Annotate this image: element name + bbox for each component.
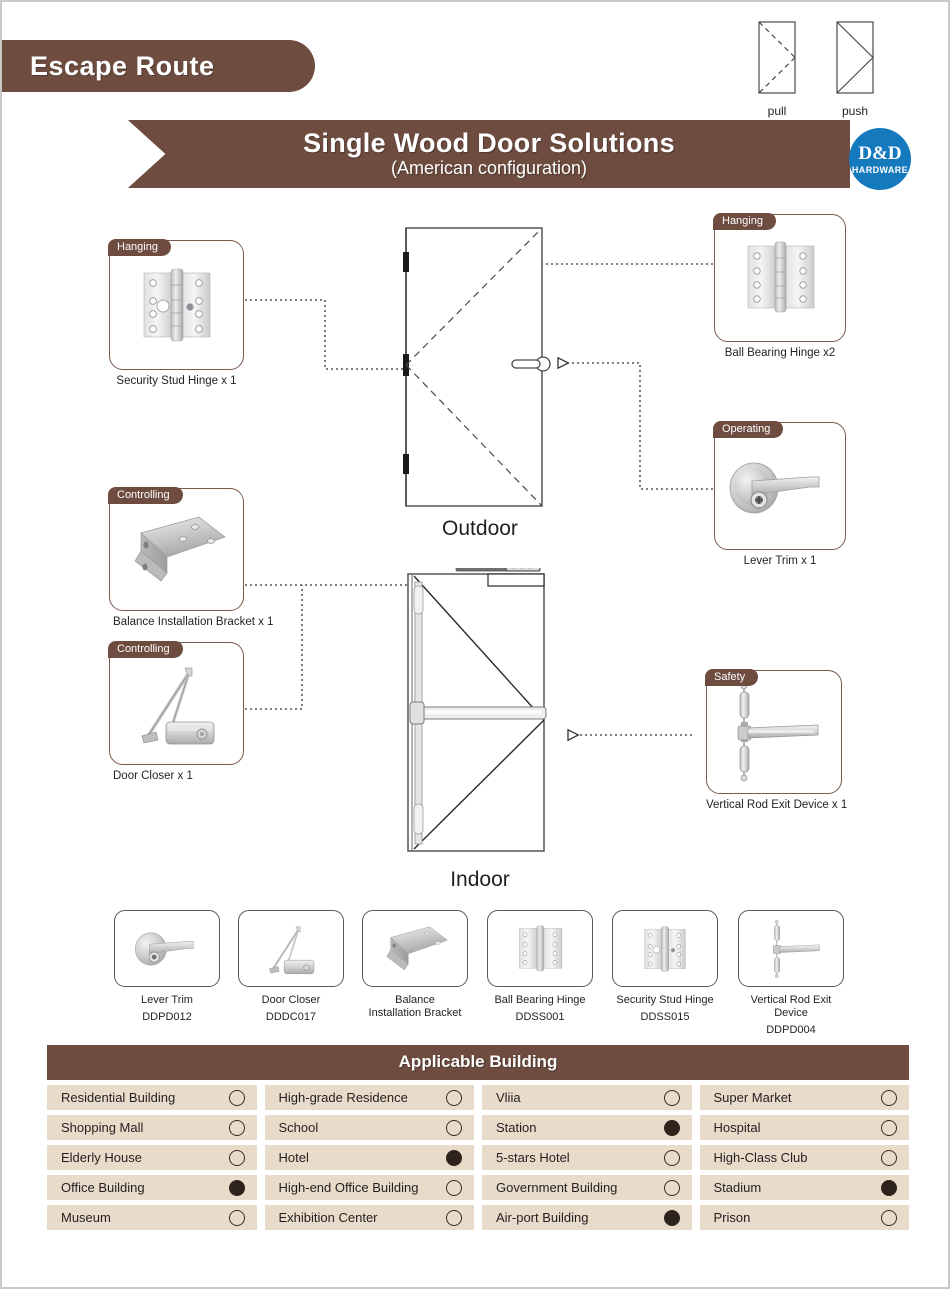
building-option-dot[interactable] (664, 1150, 680, 1166)
lever-trim-icon (722, 443, 838, 529)
building-option-dot-selected[interactable] (229, 1180, 245, 1196)
building-option-label: Elderly House (61, 1150, 142, 1165)
product-code: DDPD012 (114, 1011, 220, 1023)
building-option[interactable]: 5-stars Hotel (482, 1145, 692, 1170)
building-option-label: High-end Office Building (279, 1180, 419, 1195)
outdoor-door-diagram (400, 224, 560, 514)
outdoor-label: Outdoor (400, 517, 560, 541)
building-option[interactable]: Station (482, 1115, 692, 1140)
building-option-dot[interactable] (229, 1090, 245, 1106)
door-closer-icon (250, 918, 332, 980)
building-option[interactable]: Exhibition Center (265, 1205, 475, 1230)
security-stud-hinge-icon (127, 255, 227, 355)
applicable-building-title: Applicable Building (47, 1045, 909, 1080)
building-option-dot[interactable] (229, 1120, 245, 1136)
building-option[interactable]: Shopping Mall (47, 1115, 257, 1140)
product-thumb (487, 910, 593, 987)
building-option-dot-selected[interactable] (664, 1210, 680, 1226)
building-option-dot[interactable] (229, 1150, 245, 1166)
page-root: Escape Route pull push Single Wood Door … (0, 0, 950, 1289)
product-security-stud-hinge: Security Stud Hinge DDSS015 (612, 910, 718, 1023)
building-option-dot[interactable] (664, 1180, 680, 1196)
product-thumb (238, 910, 344, 987)
product-name: Vertical Rod Exit Device (738, 994, 844, 1020)
callout-tag: Controlling (108, 641, 183, 658)
building-option-label: Museum (61, 1210, 111, 1225)
product-name: Ball Bearing Hinge (487, 994, 593, 1007)
building-option-label: School (279, 1120, 319, 1135)
building-option[interactable]: Super Market (700, 1085, 910, 1110)
building-option-dot[interactable] (881, 1150, 897, 1166)
building-option[interactable]: School (265, 1115, 475, 1140)
building-option-dot-selected[interactable] (881, 1180, 897, 1196)
callout-tag: Safety (705, 669, 758, 686)
building-option-dot-selected[interactable] (446, 1150, 462, 1166)
balance-installation-bracket-icon (373, 920, 457, 978)
building-option[interactable]: Museum (47, 1205, 257, 1230)
callout-ball-bearing-hinge: Hanging Ball Bearing Hinge x2 (714, 214, 846, 359)
indoor-door-diagram (400, 568, 560, 858)
building-option-dot[interactable] (664, 1090, 680, 1106)
callout-security-stud-hinge: Hanging (109, 240, 244, 387)
product-name: Lever Trim (114, 994, 220, 1007)
building-option-dot[interactable] (881, 1120, 897, 1136)
building-option-dot[interactable] (446, 1180, 462, 1196)
building-option-label: Vliia (496, 1090, 521, 1105)
vertical-rod-exit-device-icon (714, 678, 834, 786)
callout-lever-trim: Operating (714, 422, 846, 567)
building-option[interactable]: Stadium (700, 1175, 910, 1200)
building-option[interactable]: Hospital (700, 1115, 910, 1140)
building-option[interactable]: Office Building (47, 1175, 257, 1200)
indoor-label: Indoor (400, 868, 560, 892)
building-option-dot[interactable] (446, 1090, 462, 1106)
product-lever-trim: Lever Trim DDPD012 (114, 910, 220, 1023)
hinge-mark-top (403, 252, 409, 272)
ball-bearing-hinge-icon (504, 918, 576, 980)
building-option-dot-selected[interactable] (664, 1120, 680, 1136)
callout-caption: Lever Trim x 1 (714, 555, 846, 567)
building-option-label: High-grade Residence (279, 1090, 408, 1105)
building-option-label: 5-stars Hotel (496, 1150, 570, 1165)
product-name: Balance Installation Bracket (362, 994, 468, 1020)
building-option[interactable]: Air-port Building (482, 1205, 692, 1230)
building-option-label: Hospital (714, 1120, 761, 1135)
callout-tag: Controlling (108, 487, 183, 504)
callout-tag: Hanging (108, 239, 171, 256)
building-option-label: Prison (714, 1210, 751, 1225)
product-thumb (612, 910, 718, 987)
product-name: Door Closer (238, 994, 344, 1007)
building-option[interactable]: High-Class Club (700, 1145, 910, 1170)
callout-caption: Balance Installation Bracket x 1 (109, 616, 244, 628)
product-code: DDSS001 (487, 1011, 593, 1023)
product-thumb (362, 910, 468, 987)
building-option-label: Shopping Mall (61, 1120, 143, 1135)
security-stud-hinge-icon (629, 918, 701, 980)
balance-installation-bracket-icon (121, 507, 233, 593)
product-code: DDSS015 (612, 1011, 718, 1023)
applicable-building-table: Applicable Building Residential Building… (47, 1045, 909, 1230)
product-thumb (114, 910, 220, 987)
callout-caption: Ball Bearing Hinge x2 (714, 347, 846, 359)
callout-door-closer: Controlling Door Clos (109, 642, 244, 782)
product-code: DDPD004 (738, 1024, 844, 1036)
building-option-label: Air-port Building (496, 1210, 589, 1225)
ball-bearing-hinge-icon (730, 230, 830, 326)
product-vertical-rod-exit-device: Vertical Rod Exit Device DDPD004 (738, 910, 844, 1036)
hinge-mark-bottom (403, 454, 409, 474)
product-name: Security Stud Hinge (612, 994, 718, 1007)
building-option-label: Office Building (61, 1180, 145, 1195)
building-option[interactable]: Residential Building (47, 1085, 257, 1110)
building-option-dot[interactable] (446, 1120, 462, 1136)
applicable-building-grid: Residential BuildingHigh-grade Residence… (47, 1085, 909, 1230)
lever-trim-icon (123, 920, 211, 978)
product-ball-bearing-hinge: Ball Bearing Hinge DDSS001 (487, 910, 593, 1023)
callout-tag: Operating (713, 421, 783, 438)
building-option[interactable]: High-end Office Building (265, 1175, 475, 1200)
product-code: DDDC017 (238, 1011, 344, 1023)
callout-caption: Vertical Rod Exit Device x 1 (706, 799, 842, 811)
building-option-dot[interactable] (229, 1210, 245, 1226)
door-closer-icon (122, 654, 232, 754)
building-option[interactable]: High-grade Residence (265, 1085, 475, 1110)
product-door-closer: Door Closer DDDC017 (238, 910, 344, 1023)
building-option-label: High-Class Club (714, 1150, 808, 1165)
product-balance-installation-bracket: Balance Installation Bracket (362, 910, 468, 1024)
building-option-label: Residential Building (61, 1090, 175, 1105)
vertical-rod-exit-device-icon (751, 917, 831, 981)
building-option-label: Government Building (496, 1180, 617, 1195)
callout-balance-installation-bracket: Controlling (109, 488, 244, 628)
callout-tag: Hanging (713, 213, 776, 230)
building-option[interactable]: Prison (700, 1205, 910, 1230)
building-option-dot[interactable] (446, 1210, 462, 1226)
callout-caption: Security Stud Hinge x 1 (109, 375, 244, 387)
building-option[interactable]: Government Building (482, 1175, 692, 1200)
building-option[interactable]: Hotel (265, 1145, 475, 1170)
callout-caption: Door Closer x 1 (109, 770, 244, 782)
building-option-label: Station (496, 1120, 536, 1135)
building-option-label: Stadium (714, 1180, 762, 1195)
product-thumb (738, 910, 844, 987)
building-option-dot[interactable] (881, 1090, 897, 1106)
callout-vertical-rod-exit-device: Safety (706, 670, 842, 811)
building-option-label: Exhibition Center (279, 1210, 378, 1225)
building-option-dot[interactable] (881, 1210, 897, 1226)
building-option-label: Hotel (279, 1150, 309, 1165)
building-option[interactable]: Vliia (482, 1085, 692, 1110)
building-option[interactable]: Elderly House (47, 1145, 257, 1170)
building-option-label: Super Market (714, 1090, 792, 1105)
